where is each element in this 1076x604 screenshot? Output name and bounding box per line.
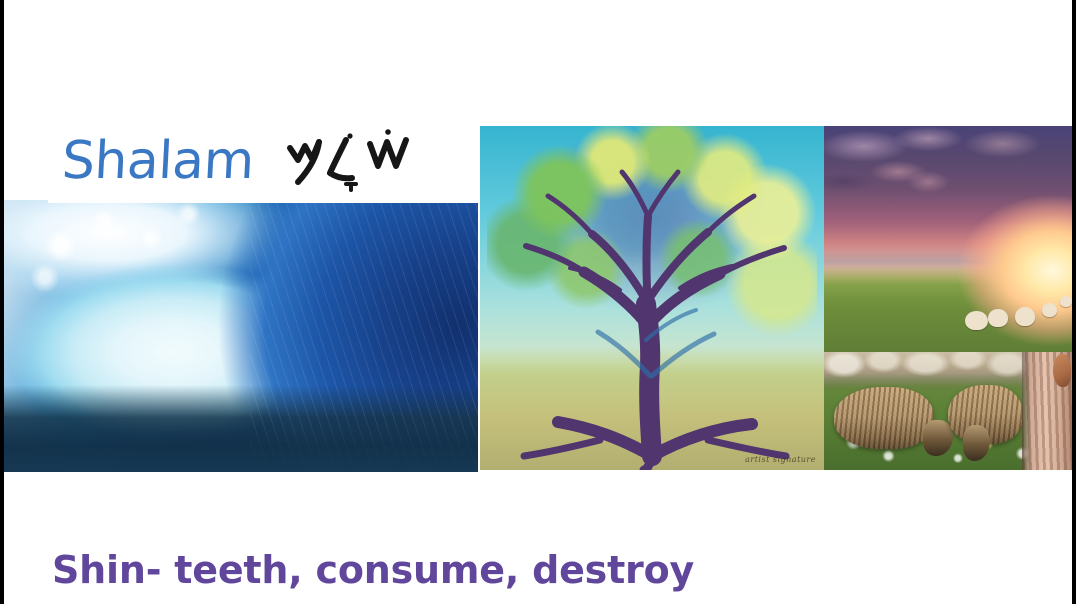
slide-canvas: artist signature Shalam [0,0,1076,604]
image-grazing-sheep [824,352,1072,470]
title-card: Shalam [48,118,478,203]
shepherd-arm [1053,354,1071,387]
wave-spray-icon [13,200,278,314]
paleo-hebrew-shalam-icon [284,126,424,196]
sheep-left-head [923,420,953,455]
image-sunset-pasture [824,126,1072,352]
tree-branches [480,126,824,470]
caption-text: Shin- teeth, consume, destroy [52,548,694,592]
sunset-sheep-group [824,289,1072,339]
sheep-left-body [834,387,933,448]
painting-signature: artist signature [745,455,816,464]
title-latin-text: Shalam [61,135,256,187]
sunset-clouds [824,126,1072,253]
image-ocean-wave [4,200,478,472]
wave-shadow [4,414,478,472]
shepherd-robe [1022,352,1072,470]
sheep-right-head [963,425,990,460]
image-tree-of-life: artist signature [480,126,824,470]
